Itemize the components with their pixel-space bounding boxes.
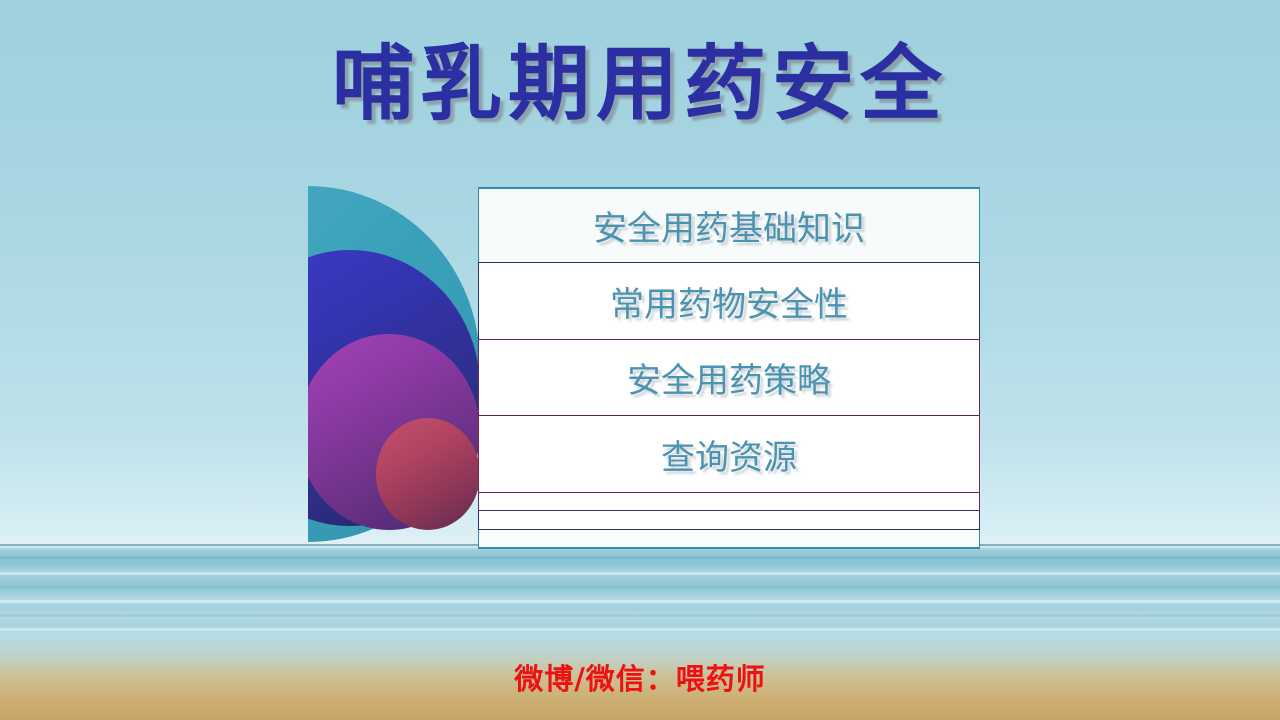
semicircle-inner-crimson: [376, 418, 480, 530]
table-row[interactable]: 查询资源: [479, 416, 980, 493]
table-row[interactable]: [479, 511, 980, 530]
wave-band: [0, 614, 1280, 617]
agenda-item-4[interactable]: 查询资源: [479, 416, 980, 493]
agenda-item-2[interactable]: 常用药物安全性: [479, 263, 980, 340]
agenda-item-6[interactable]: [479, 511, 980, 530]
wave-band: [0, 556, 1280, 559]
agenda-item-5[interactable]: [479, 493, 980, 511]
wave-band: [0, 586, 1280, 589]
agenda-table: 安全用药基础知识 常用药物安全性 安全用药策略 查询资源: [478, 187, 980, 549]
table-row[interactable]: 安全用药策略: [479, 340, 980, 416]
table-row[interactable]: 安全用药基础知识: [479, 188, 980, 263]
footer-credit: 微博/微信：喂药师: [0, 656, 1280, 698]
wave-band: [0, 628, 1280, 631]
concentric-semicircles-graphic: [308, 186, 480, 542]
table-row[interactable]: [479, 530, 980, 549]
wave-band: [0, 572, 1280, 575]
wave-band: [0, 600, 1280, 603]
slide-title: 哺乳期用药安全: [0, 40, 1280, 130]
agenda-item-1[interactable]: 安全用药基础知识: [479, 188, 980, 263]
agenda-item-7[interactable]: [479, 530, 980, 549]
agenda-item-3[interactable]: 安全用药策略: [479, 340, 980, 416]
slide-canvas: 哺乳期用药安全 安全用药基础知识 常用药物安全性 安全用药策略 查询资源 微博/…: [0, 0, 1280, 720]
table-row[interactable]: [479, 493, 980, 511]
table-row[interactable]: 常用药物安全性: [479, 263, 980, 340]
